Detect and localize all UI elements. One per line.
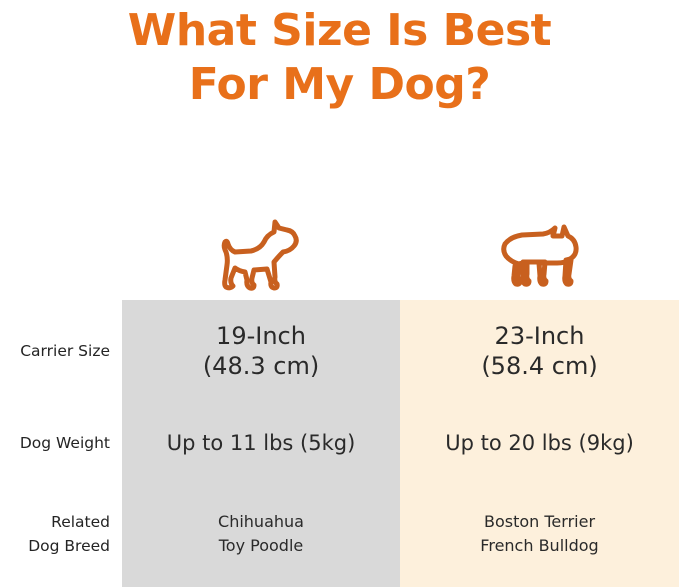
row-label-carrier-size: Carrier Size — [0, 339, 122, 363]
cell-line-1: Up to 20 lbs (9kg) — [400, 429, 679, 457]
small-dog-chihuahua-icon — [217, 218, 305, 294]
cell-line-2: Toy Poodle — [122, 534, 400, 558]
cell-line-1: 23-Inch — [400, 321, 679, 351]
page-title-line-2: For My Dog? — [0, 58, 679, 112]
cell-line-2: French Bulldog — [400, 534, 679, 558]
large-dog-icon-container — [400, 212, 679, 294]
cell-line-2: (48.3 cm) — [122, 351, 400, 381]
small-dog-icon-container — [122, 212, 400, 294]
cell-dog-weight-large: Up to 20 lbs (9kg) — [400, 429, 679, 457]
cell-breed-small: Chihuahua Toy Poodle — [122, 510, 400, 558]
page-title: What Size Is Best For My Dog? — [0, 4, 679, 112]
cell-line-1: Chihuahua — [122, 510, 400, 534]
cell-line-1: Up to 11 lbs (5kg) — [122, 429, 400, 457]
table-row: Dog Weight Up to 11 lbs (5kg) Up to 20 l… — [0, 412, 679, 474]
cell-carrier-size-large: 23-Inch (58.4 cm) — [400, 321, 679, 381]
cell-breed-large: Boston Terrier French Bulldog — [400, 510, 679, 558]
row-label-line-2: Dog Breed — [0, 534, 110, 558]
table-row: Related Dog Breed Chihuahua Toy Poodle B… — [0, 498, 679, 570]
table-row: Carrier Size 19-Inch (48.3 cm) 23-Inch (… — [0, 312, 679, 390]
cell-line-1: 19-Inch — [122, 321, 400, 351]
cell-carrier-size-small: 19-Inch (48.3 cm) — [122, 321, 400, 381]
size-comparison-table: Carrier Size 19-Inch (48.3 cm) 23-Inch (… — [0, 300, 679, 587]
row-label-dog-weight: Dog Weight — [0, 431, 122, 455]
page-title-line-1: What Size Is Best — [0, 4, 679, 58]
cell-line-2: (58.4 cm) — [400, 351, 679, 381]
cell-line-1: Boston Terrier — [400, 510, 679, 534]
cell-dog-weight-small: Up to 11 lbs (5kg) — [122, 429, 400, 457]
large-dog-french-bulldog-icon — [493, 222, 587, 294]
row-label-line-1: Related — [0, 510, 110, 534]
row-label-related-dog-breed: Related Dog Breed — [0, 510, 122, 558]
